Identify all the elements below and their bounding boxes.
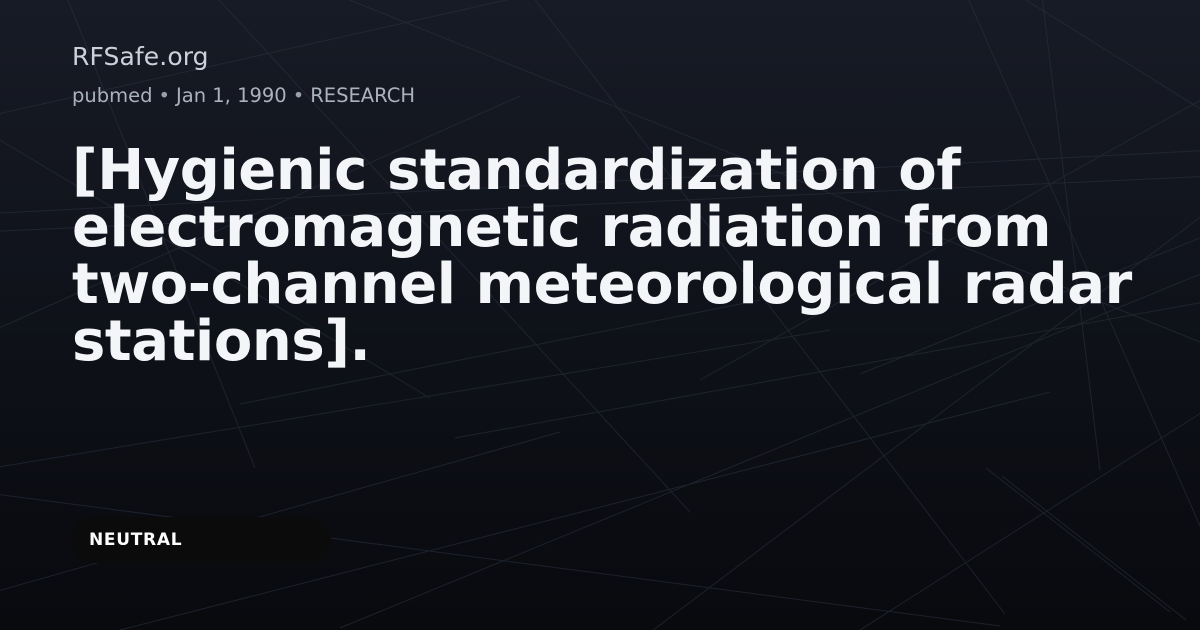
meta-separator-2: • xyxy=(287,83,311,109)
meta-date: Jan 1, 1990 xyxy=(176,84,287,107)
site-name: RFSafe.org xyxy=(72,42,209,72)
status-badge: NEUTRAL xyxy=(71,517,331,563)
meta-source: pubmed xyxy=(72,84,153,107)
meta-category: RESEARCH xyxy=(310,84,415,107)
article-meta: pubmed•Jan 1, 1990•RESEARCH xyxy=(72,83,415,109)
social-share-card: RFSafe.org pubmed•Jan 1, 1990•RESEARCH [… xyxy=(0,0,1200,630)
page-title: [Hygienic standardization of electromagn… xyxy=(72,142,1132,370)
meta-separator-1: • xyxy=(153,83,177,109)
status-badge-label: NEUTRAL xyxy=(89,532,182,549)
